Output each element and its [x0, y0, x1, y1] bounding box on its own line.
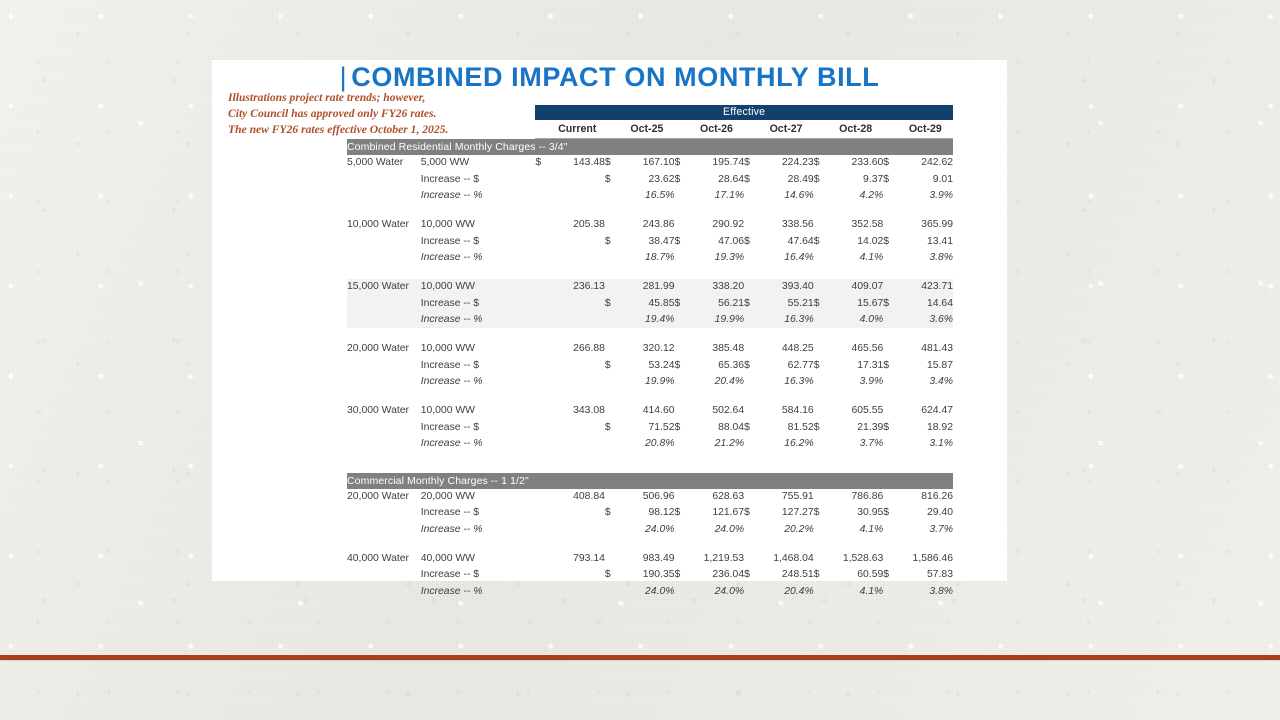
charge-currency-symbol — [883, 279, 897, 295]
charge-currency-symbol — [535, 279, 549, 295]
increase-currency-symbol: $ — [814, 234, 828, 250]
percent-symbol-spacer — [744, 312, 758, 328]
section-header-band: Commercial Monthly Charges -- 1 1/2" — [347, 473, 953, 489]
table-row: 20,000 Water20,000 WW408.84506.96628.637… — [347, 489, 953, 505]
percent-symbol-spacer — [535, 374, 549, 390]
increase-percent-value: 17.1% — [689, 188, 744, 204]
spacer-cell — [347, 105, 535, 120]
table-row: Increase -- %20.8%21.2%16.2%3.7%3.1% — [347, 436, 953, 452]
increase-currency-symbol: $ — [883, 296, 897, 312]
charge-currency-symbol — [814, 341, 828, 357]
column-header-oct-26: Oct-26 — [689, 120, 744, 139]
percent-symbol-spacer — [744, 436, 758, 452]
charge-currency-symbol — [883, 403, 897, 419]
increase-percent-label: Increase -- % — [421, 522, 536, 538]
increase-dollar-value — [550, 567, 605, 583]
increase-percent-value — [550, 436, 605, 452]
increase-dollar-value: 62.77 — [758, 358, 813, 374]
percent-symbol-spacer — [675, 188, 689, 204]
increase-percent-value: 18.7% — [619, 250, 674, 266]
charge-value: 816.26 — [898, 489, 953, 505]
increase-currency-symbol: $ — [814, 358, 828, 374]
increase-currency-symbol: $ — [814, 296, 828, 312]
section-header-band: Combined Residential Monthly Charges -- … — [347, 139, 953, 156]
increase-dollar-value: 29.40 — [898, 505, 953, 521]
row-indent-cell — [347, 374, 421, 390]
increase-currency-symbol: $ — [883, 234, 897, 250]
usage-label: 40,000 Water — [347, 551, 421, 567]
gap-cell — [347, 453, 953, 473]
increase-currency-symbol: $ — [675, 420, 689, 436]
increase-dollar-value: 81.52 — [758, 420, 813, 436]
charge-currency-symbol — [744, 341, 758, 357]
increase-percent-value: 16.3% — [758, 312, 813, 328]
usage-label: 10,000 Water — [347, 217, 421, 233]
increase-dollar-value: 57.83 — [898, 567, 953, 583]
percent-symbol-spacer — [605, 522, 619, 538]
row-indent-cell — [347, 567, 421, 583]
percent-symbol-spacer — [535, 188, 549, 204]
percent-symbol-spacer — [675, 584, 689, 600]
spacer-cell — [347, 204, 953, 217]
increase-currency-symbol: $ — [744, 296, 758, 312]
charge-currency-symbol — [605, 551, 619, 567]
increase-currency-symbol: $ — [883, 505, 897, 521]
charge-currency-symbol — [535, 403, 549, 419]
increase-percent-value — [550, 584, 605, 600]
charge-value: 793.14 — [550, 551, 605, 567]
charge-currency-symbol — [605, 489, 619, 505]
increase-dollar-value: 30.95 — [828, 505, 883, 521]
charge-currency-symbol: $ — [605, 155, 619, 171]
increase-dollar-value: 15.87 — [898, 358, 953, 374]
increase-dollar-value: 236.04 — [689, 567, 744, 583]
table-row: 15,000 Water10,000 WW236.13281.99338.203… — [347, 279, 953, 295]
percent-symbol-spacer — [814, 584, 828, 600]
charge-currency-symbol: $ — [744, 155, 758, 171]
usage-label: 15,000 Water — [347, 279, 421, 295]
charge-value: 481.43 — [898, 341, 953, 357]
increase-currency-symbol: $ — [605, 172, 619, 188]
increase-dollar-value: 23.62 — [619, 172, 674, 188]
effective-header-row: Effective — [347, 105, 953, 120]
percent-symbol-spacer — [814, 188, 828, 204]
charge-value: 352.58 — [828, 217, 883, 233]
increase-currency-symbol — [535, 234, 549, 250]
increase-percent-value: 3.8% — [898, 250, 953, 266]
percent-symbol-spacer — [883, 188, 897, 204]
increase-dollar-value: 45.85 — [619, 296, 674, 312]
title-text: COMBINED IMPACT ON MONTHLY BILL — [351, 62, 879, 92]
increase-currency-symbol: $ — [814, 172, 828, 188]
percent-symbol-spacer — [814, 522, 828, 538]
increase-dollar-value: 56.21 — [689, 296, 744, 312]
row-spacer — [347, 390, 953, 403]
charge-currency-symbol — [675, 551, 689, 567]
charge-value: 365.99 — [898, 217, 953, 233]
increase-dollar-value: 53.24 — [619, 358, 674, 374]
charge-value: 393.40 — [758, 279, 813, 295]
increase-percent-value: 14.6% — [758, 188, 813, 204]
charge-value: 338.20 — [689, 279, 744, 295]
increase-percent-value: 3.1% — [898, 436, 953, 452]
row-indent-cell — [347, 172, 421, 188]
increase-dollar-value: 47.06 — [689, 234, 744, 250]
percent-symbol-spacer — [605, 250, 619, 266]
increase-dollar-value: 9.01 — [898, 172, 953, 188]
bottom-accent-rule — [0, 655, 1280, 660]
increase-currency-symbol: $ — [605, 505, 619, 521]
charge-currency-symbol — [535, 551, 549, 567]
row-indent-cell — [347, 250, 421, 266]
table-row: 40,000 Water40,000 WW793.14983.491,219.5… — [347, 551, 953, 567]
increase-percent-value: 24.0% — [619, 522, 674, 538]
charge-value: 983.49 — [619, 551, 674, 567]
increase-currency-symbol — [535, 358, 549, 374]
increase-dollar-value — [550, 358, 605, 374]
increase-percent-value — [550, 312, 605, 328]
percent-symbol-spacer — [814, 312, 828, 328]
increase-dollar-label: Increase -- $ — [421, 420, 536, 436]
increase-dollar-value: 98.12 — [619, 505, 674, 521]
column-header-symbol-4 — [814, 120, 828, 139]
increase-dollar-value — [550, 296, 605, 312]
increase-currency-symbol: $ — [605, 567, 619, 583]
increase-percent-value: 4.1% — [828, 250, 883, 266]
charge-currency-symbol — [883, 489, 897, 505]
charge-currency-symbol — [535, 489, 549, 505]
increase-dollar-value: 190.35 — [619, 567, 674, 583]
charge-currency-symbol — [744, 489, 758, 505]
percent-symbol-spacer — [744, 374, 758, 390]
increase-currency-symbol — [535, 172, 549, 188]
increase-currency-symbol: $ — [605, 420, 619, 436]
charge-currency-symbol: $ — [675, 155, 689, 171]
charge-value: 448.25 — [758, 341, 813, 357]
charge-value: 408.84 — [550, 489, 605, 505]
charge-currency-symbol: $ — [535, 155, 549, 171]
charge-currency-symbol — [675, 279, 689, 295]
percent-symbol-spacer — [814, 250, 828, 266]
increase-percent-value: 3.8% — [898, 584, 953, 600]
charge-value: 605.55 — [828, 403, 883, 419]
increase-currency-symbol — [535, 420, 549, 436]
column-header-symbol-3 — [744, 120, 758, 139]
column-header-symbol-1 — [605, 120, 619, 139]
percent-symbol-spacer — [535, 312, 549, 328]
row-indent-cell — [347, 358, 421, 374]
increase-percent-value: 3.9% — [828, 374, 883, 390]
table-row: Increase -- %24.0%24.0%20.4%4.1%3.8% — [347, 584, 953, 600]
increase-percent-value: 16.2% — [758, 436, 813, 452]
increase-percent-value: 3.6% — [898, 312, 953, 328]
charge-value: 755.91 — [758, 489, 813, 505]
table-row: Increase -- $$98.12$121.67$127.27$30.95$… — [347, 505, 953, 521]
percent-symbol-spacer — [744, 188, 758, 204]
charge-value: 243.86 — [619, 217, 674, 233]
increase-currency-symbol: $ — [744, 234, 758, 250]
percent-symbol-spacer — [675, 436, 689, 452]
increase-dollar-value: 15.67 — [828, 296, 883, 312]
charge-value: 1,219.53 — [689, 551, 744, 567]
charge-value: 628.63 — [689, 489, 744, 505]
charge-currency-symbol — [883, 551, 897, 567]
increase-currency-symbol: $ — [744, 358, 758, 374]
increase-currency-symbol: $ — [883, 172, 897, 188]
usage-label: 5,000 Water — [347, 155, 421, 171]
increase-percent-value: 19.3% — [689, 250, 744, 266]
charge-currency-symbol — [744, 551, 758, 567]
charge-currency-symbol — [814, 279, 828, 295]
rates-table: EffectiveCurrentOct-25Oct-26Oct-27Oct-28… — [347, 105, 953, 600]
increase-dollar-value: 121.67 — [689, 505, 744, 521]
charge-value: 786.86 — [828, 489, 883, 505]
charge-currency-symbol — [605, 403, 619, 419]
column-header-row: CurrentOct-25Oct-26Oct-27Oct-28Oct-29 — [347, 120, 953, 139]
increase-percent-label: Increase -- % — [421, 436, 536, 452]
increase-dollar-value: 127.27 — [758, 505, 813, 521]
charge-value: 1,468.04 — [758, 551, 813, 567]
table-row: 20,000 Water10,000 WW266.88320.12385.484… — [347, 341, 953, 357]
percent-symbol-spacer — [675, 522, 689, 538]
row-indent-cell — [347, 312, 421, 328]
increase-dollar-value: 47.64 — [758, 234, 813, 250]
wastewater-label: 10,000 WW — [421, 279, 536, 295]
percent-symbol-spacer — [535, 436, 549, 452]
increase-currency-symbol: $ — [675, 358, 689, 374]
increase-currency-symbol: $ — [744, 505, 758, 521]
charge-currency-symbol — [605, 341, 619, 357]
spacer-cell — [347, 538, 953, 551]
charge-value: 385.48 — [689, 341, 744, 357]
increase-percent-label: Increase -- % — [421, 188, 536, 204]
charge-currency-symbol — [883, 217, 897, 233]
row-spacer — [347, 538, 953, 551]
row-spacer — [347, 328, 953, 341]
increase-currency-symbol: $ — [675, 567, 689, 583]
increase-dollar-value: 38.47 — [619, 234, 674, 250]
increase-percent-value: 16.5% — [619, 188, 674, 204]
increase-dollar-label: Increase -- $ — [421, 505, 536, 521]
increase-currency-symbol: $ — [675, 234, 689, 250]
column-header-oct-25: Oct-25 — [619, 120, 674, 139]
increase-currency-symbol: $ — [883, 358, 897, 374]
increase-dollar-value: 28.64 — [689, 172, 744, 188]
row-indent-cell — [347, 436, 421, 452]
charge-currency-symbol — [535, 341, 549, 357]
increase-percent-value: 4.2% — [828, 188, 883, 204]
increase-dollar-label: Increase -- $ — [421, 358, 536, 374]
increase-percent-value: 3.9% — [898, 188, 953, 204]
charge-currency-symbol — [744, 403, 758, 419]
row-indent-cell — [347, 188, 421, 204]
increase-dollar-value — [550, 505, 605, 521]
percent-symbol-spacer — [814, 374, 828, 390]
increase-currency-symbol: $ — [675, 296, 689, 312]
percent-symbol-spacer — [744, 584, 758, 600]
increase-currency-symbol: $ — [814, 420, 828, 436]
charge-currency-symbol — [744, 217, 758, 233]
table-row: Increase -- %19.4%19.9%16.3%4.0%3.6% — [347, 312, 953, 328]
wastewater-label: 20,000 WW — [421, 489, 536, 505]
wastewater-label: 5,000 WW — [421, 155, 536, 171]
spacer-cell — [347, 266, 953, 279]
wastewater-label: 10,000 WW — [421, 341, 536, 357]
increase-dollar-value — [550, 172, 605, 188]
percent-symbol-spacer — [605, 584, 619, 600]
increase-currency-symbol: $ — [814, 567, 828, 583]
row-indent-cell — [347, 584, 421, 600]
charge-value: 233.60 — [828, 155, 883, 171]
row-indent-cell — [347, 522, 421, 538]
increase-dollar-value: 248.51 — [758, 567, 813, 583]
annotation-line-1: Illustrations project rate trends; howev… — [228, 90, 448, 106]
column-header-symbol-5 — [883, 120, 897, 139]
increase-percent-value: 16.4% — [758, 250, 813, 266]
percent-symbol-spacer — [605, 312, 619, 328]
increase-dollar-value — [550, 234, 605, 250]
charge-currency-symbol — [814, 551, 828, 567]
increase-dollar-value — [550, 420, 605, 436]
increase-percent-value: 24.0% — [689, 522, 744, 538]
increase-currency-symbol — [535, 567, 549, 583]
percent-symbol-spacer — [883, 584, 897, 600]
charge-value: 502.64 — [689, 403, 744, 419]
charge-currency-symbol — [535, 217, 549, 233]
increase-percent-value — [550, 250, 605, 266]
increase-currency-symbol — [535, 505, 549, 521]
charge-value: 236.13 — [550, 279, 605, 295]
charge-value: 143.48 — [550, 155, 605, 171]
increase-percent-value: 3.4% — [898, 374, 953, 390]
charge-value: 423.71 — [898, 279, 953, 295]
table-row: 30,000 Water10,000 WW343.08414.60502.645… — [347, 403, 953, 419]
charge-currency-symbol — [675, 403, 689, 419]
percent-symbol-spacer — [883, 312, 897, 328]
charge-value: 224.23 — [758, 155, 813, 171]
page-title: |COMBINED IMPACT ON MONTHLY BILL — [212, 62, 1007, 93]
column-header-current: Current — [550, 120, 605, 139]
charge-value: 205.38 — [550, 217, 605, 233]
increase-percent-value: 19.4% — [619, 312, 674, 328]
table-row: 10,000 Water10,000 WW205.38243.86290.923… — [347, 217, 953, 233]
increase-dollar-value: 14.02 — [828, 234, 883, 250]
increase-percent-label: Increase -- % — [421, 374, 536, 390]
increase-dollar-value: 28.49 — [758, 172, 813, 188]
increase-percent-value: 4.1% — [828, 522, 883, 538]
increase-currency-symbol: $ — [605, 234, 619, 250]
percent-symbol-spacer — [883, 250, 897, 266]
increase-percent-value: 20.4% — [758, 584, 813, 600]
row-indent-cell — [347, 234, 421, 250]
percent-symbol-spacer — [535, 522, 549, 538]
increase-percent-value: 24.0% — [619, 584, 674, 600]
increase-dollar-value: 65.36 — [689, 358, 744, 374]
table-row: 5,000 Water5,000 WW$143.48$167.10$195.74… — [347, 155, 953, 171]
increase-dollar-value: 60.59 — [828, 567, 883, 583]
section-gap-row — [347, 453, 953, 473]
increase-percent-value: 16.3% — [758, 374, 813, 390]
row-indent-cell — [347, 420, 421, 436]
percent-symbol-spacer — [744, 522, 758, 538]
percent-symbol-spacer — [605, 374, 619, 390]
charge-currency-symbol — [814, 489, 828, 505]
percent-symbol-spacer — [675, 312, 689, 328]
increase-percent-value: 20.8% — [619, 436, 674, 452]
increase-currency-symbol: $ — [605, 358, 619, 374]
table-row: Increase -- %19.9%20.4%16.3%3.9%3.4% — [347, 374, 953, 390]
charge-value: 1,586.46 — [898, 551, 953, 567]
charge-currency-symbol — [605, 217, 619, 233]
increase-dollar-label: Increase -- $ — [421, 234, 536, 250]
table-row: Increase -- $$190.35$236.04$248.51$60.59… — [347, 567, 953, 583]
charge-currency-symbol — [675, 489, 689, 505]
increase-currency-symbol: $ — [675, 172, 689, 188]
rates-table-container: EffectiveCurrentOct-25Oct-26Oct-27Oct-28… — [347, 105, 953, 600]
column-header-oct-29: Oct-29 — [898, 120, 953, 139]
increase-currency-symbol — [535, 296, 549, 312]
percent-symbol-spacer — [675, 250, 689, 266]
charge-value: 338.56 — [758, 217, 813, 233]
increase-percent-value: 19.9% — [619, 374, 674, 390]
effective-band: Effective — [535, 105, 953, 120]
table-row: Increase -- $$53.24$65.36$62.77$17.31$15… — [347, 358, 953, 374]
increase-percent-value — [550, 188, 605, 204]
percent-symbol-spacer — [535, 250, 549, 266]
column-header-symbol-2 — [675, 120, 689, 139]
increase-percent-value: 19.9% — [689, 312, 744, 328]
percent-symbol-spacer — [883, 436, 897, 452]
charge-currency-symbol: $ — [814, 155, 828, 171]
usage-label: 20,000 Water — [347, 341, 421, 357]
charge-value: 167.10 — [619, 155, 674, 171]
column-header-oct-27: Oct-27 — [758, 120, 813, 139]
increase-percent-value — [550, 374, 605, 390]
wastewater-label: 10,000 WW — [421, 403, 536, 419]
increase-percent-value: 4.1% — [828, 584, 883, 600]
title-bar-glyph: | — [340, 62, 348, 92]
table-row: Increase -- %24.0%24.0%20.2%4.1%3.7% — [347, 522, 953, 538]
increase-percent-value: 24.0% — [689, 584, 744, 600]
increase-percent-value: 20.4% — [689, 374, 744, 390]
increase-percent-value: 21.2% — [689, 436, 744, 452]
increase-percent-value — [550, 522, 605, 538]
increase-currency-symbol: $ — [883, 420, 897, 436]
increase-currency-symbol: $ — [605, 296, 619, 312]
percent-symbol-spacer — [535, 584, 549, 600]
charge-value: 409.07 — [828, 279, 883, 295]
charge-currency-symbol: $ — [883, 155, 897, 171]
header-blank-cell — [347, 120, 535, 139]
table-row: Increase -- $$38.47$47.06$47.64$14.02$13… — [347, 234, 953, 250]
row-indent-cell — [347, 296, 421, 312]
charge-currency-symbol — [744, 279, 758, 295]
charge-value: 290.92 — [689, 217, 744, 233]
charge-value: 1,528.63 — [828, 551, 883, 567]
increase-dollar-value: 17.31 — [828, 358, 883, 374]
increase-currency-symbol: $ — [675, 505, 689, 521]
increase-currency-symbol: $ — [814, 505, 828, 521]
charge-value: 506.96 — [619, 489, 674, 505]
table-row: Increase -- %16.5%17.1%14.6%4.2%3.9% — [347, 188, 953, 204]
increase-percent-label: Increase -- % — [421, 250, 536, 266]
row-indent-cell — [347, 505, 421, 521]
increase-dollar-value: 9.37 — [828, 172, 883, 188]
charge-value: 242.62 — [898, 155, 953, 171]
charge-value: 195.74 — [689, 155, 744, 171]
charge-currency-symbol — [814, 217, 828, 233]
charge-value: 624.47 — [898, 403, 953, 419]
